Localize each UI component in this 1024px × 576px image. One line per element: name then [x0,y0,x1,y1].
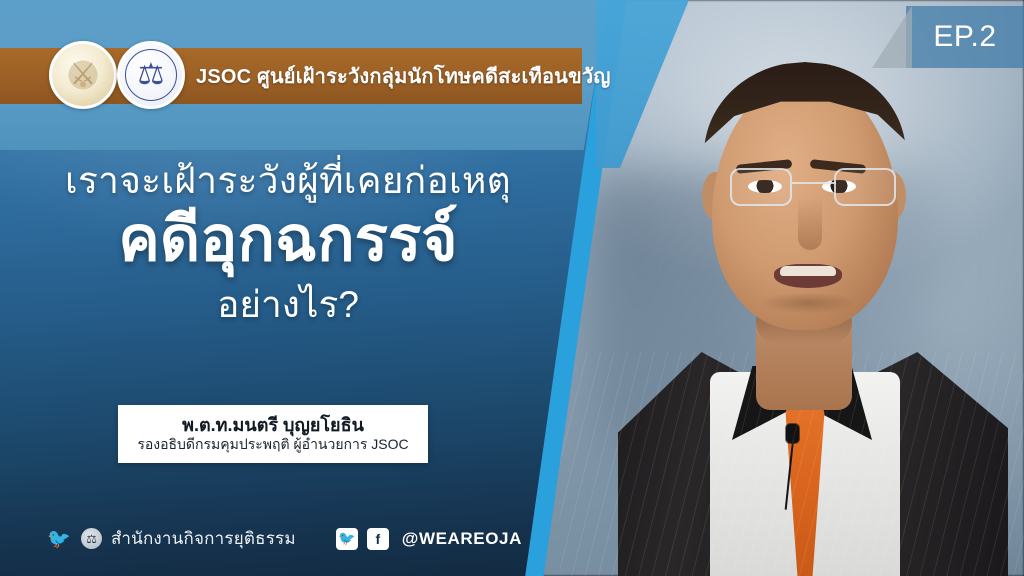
episode-label: EP.2 [933,20,996,54]
ministry-of-justice-seal-icon: ⚖ [117,41,185,109]
headline-line-3: อย่างไร? [0,281,576,329]
footer-bar: 🐦 ⚖ สำนักงานกิจการยุติธรรม 🐦 f @WEAREOJA [46,525,522,552]
thai-royal-emblem-icon: ⚔ [49,41,117,109]
lens-right [834,168,896,206]
speaker-nameplate: พ.ต.ท.มนตรี บุญยโยธิน รองอธิบดีกรมคุมประ… [118,405,428,463]
organization-name: สำนักงานกิจการยุติธรรม [111,525,296,552]
justice-seal-icon: ⚖ [81,528,102,549]
teeth [780,266,836,276]
social-handle: @WEAREOJA [402,529,522,549]
thai-royal-emblem-glyph: ⚔ [60,52,106,98]
headline-line-1: เราจะเฝ้าระวังผู้ที่เคยก่อเหตุ [0,158,576,204]
headline-block: เราจะเฝ้าระวังผู้ที่เคยก่อเหตุ คดีอุกฉกร… [0,158,576,329]
glasses-bridge [792,182,836,184]
speaker-role: รองอธิบดีกรมคุมประพฤติ ผู้อำนวยการ JSOC [137,437,408,452]
ribbon-title: JSOC ศูนย์เฝ้าระวังกลุ่มนักโทษคดีสะเทือน… [196,50,586,102]
nose [798,196,822,250]
episode-badge: EP.2 [906,6,1024,68]
chin-shadow [758,292,858,314]
speaker-name: พ.ต.ท.มนตรี บุญยโยธิน [182,416,364,436]
mouth [774,264,842,288]
scales-of-justice-glyph: ⚖ [130,54,172,96]
garuda-bird-logo-icon: 🐦 [46,528,72,550]
twitter-icon[interactable]: 🐦 [336,528,358,550]
video-thumbnail-slide: EP.2 ⚔ ⚖ JSOC ศูนย์เฝ้าระวังกลุ่มนักโทษค… [0,0,1024,576]
lens-left [730,168,792,206]
headline-line-2: คดีอุกฉกรรจ์ [0,202,576,279]
facebook-icon[interactable]: f [367,528,389,550]
